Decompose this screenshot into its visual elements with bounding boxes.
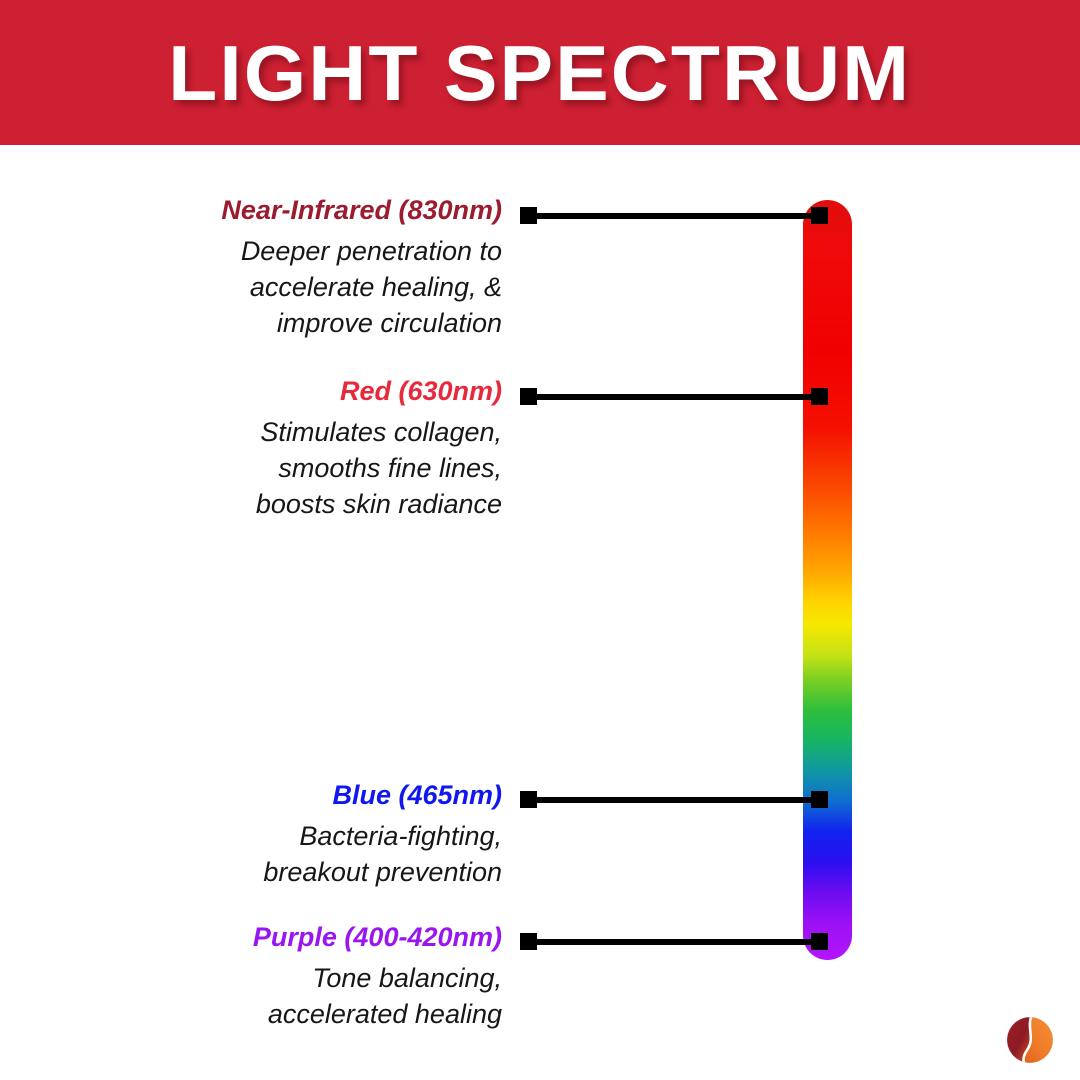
band-description-near-infrared: Deeper penetration to accelerate healing… [130, 234, 502, 341]
light-spectrum-gradient-bar [803, 200, 852, 960]
band-label-near-infrared: Near-Infrared (830nm) Deeper penetration… [130, 196, 502, 341]
marker-left-near-infrared [520, 207, 537, 224]
marker-left-blue [520, 791, 537, 808]
page-title: LIGHT SPECTRUM [169, 34, 912, 112]
band-description-purple: Tone balancing, accelerated healing [130, 961, 502, 1032]
connector-line-red [525, 394, 821, 400]
marker-left-purple [520, 933, 537, 950]
connector-line-purple [525, 939, 821, 945]
band-description-blue: Bacteria-fighting, breakout prevention [130, 819, 502, 890]
logo-halves [1004, 1014, 1056, 1066]
band-title-red: Red (630nm) [130, 377, 502, 405]
band-title-blue: Blue (465nm) [130, 781, 502, 809]
connector-line-blue [525, 797, 821, 803]
marker-left-red [520, 388, 537, 405]
band-title-near-infrared: Near-Infrared (830nm) [130, 196, 502, 224]
brand-flame-logo [1004, 1014, 1056, 1066]
band-label-purple: Purple (400-420nm) Tone balancing, accel… [130, 923, 502, 1033]
band-label-blue: Blue (465nm) Bacteria-fighting, breakout… [130, 781, 502, 891]
marker-right-purple [811, 933, 828, 950]
marker-right-red [811, 388, 828, 405]
connector-line-near-infrared [525, 213, 821, 219]
band-title-purple: Purple (400-420nm) [130, 923, 502, 951]
band-label-red: Red (630nm) Stimulates collagen, smooths… [130, 377, 502, 522]
header-banner: LIGHT SPECTRUM [0, 0, 1080, 145]
band-description-red: Stimulates collagen, smooths fine lines,… [130, 415, 502, 522]
marker-right-blue [811, 791, 828, 808]
marker-right-near-infrared [811, 207, 828, 224]
